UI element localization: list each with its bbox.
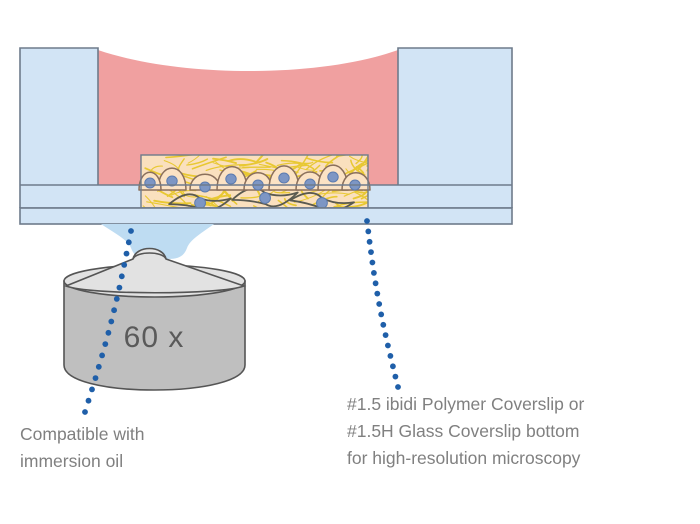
objective-lens: 60 x — [64, 249, 245, 391]
microscopy-diagram: 60 x Compatible with immersion oil #1.5 … — [0, 0, 700, 524]
caption-left-line-1: Compatible with — [20, 424, 145, 444]
coverslip-bottom — [20, 208, 512, 224]
left-well-wall-lower — [20, 185, 141, 208]
caption-right-line-3: for high-resolution microscopy — [347, 448, 581, 468]
right-well-wall — [398, 48, 512, 185]
caption-left-line-2: immersion oil — [20, 451, 123, 471]
lens-magnification-label: 60 x — [124, 321, 185, 354]
diagram-svg: 60 x Compatible with immersion oil #1.5 … — [0, 0, 700, 524]
caption-left-group: Compatible with immersion oil — [20, 424, 145, 471]
coverslip-leader — [364, 218, 401, 390]
left-well-wall — [20, 48, 98, 185]
caption-right-group: #1.5 ibidi Polymer Coverslip or #1.5H Gl… — [347, 394, 584, 468]
right-well-wall-lower — [368, 185, 512, 208]
caption-right-line-1: #1.5 ibidi Polymer Coverslip or — [347, 394, 584, 414]
caption-right-line-2: #1.5H Glass Coverslip bottom — [347, 421, 579, 441]
